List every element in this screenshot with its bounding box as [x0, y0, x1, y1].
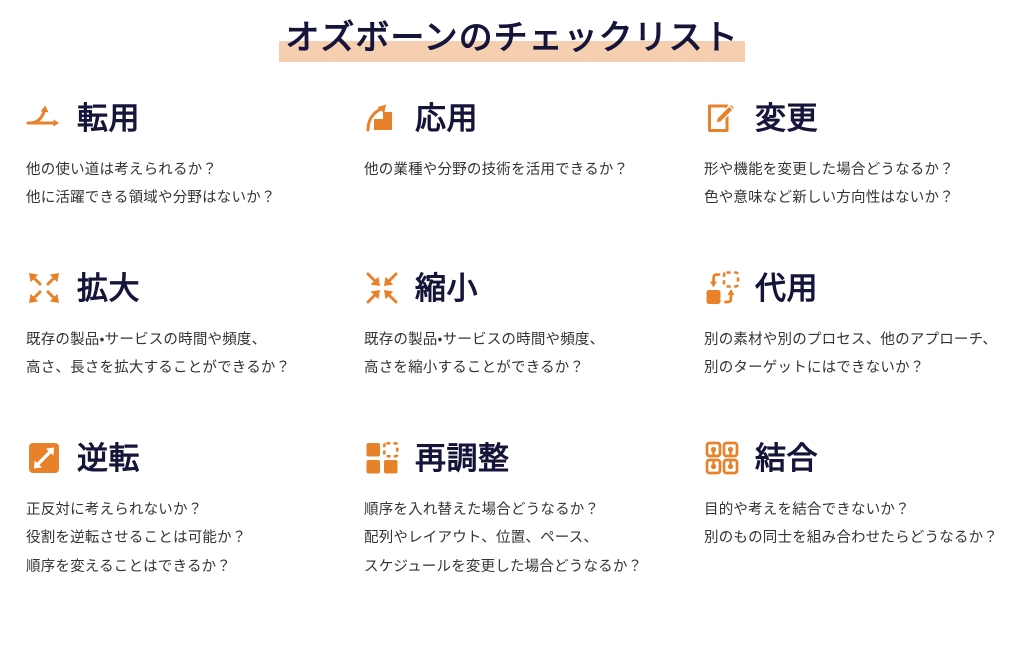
card-line: スケジュールを変更した場合どうなるか？	[364, 553, 688, 581]
card-line: 別のターゲットにはできないか？	[704, 354, 1008, 382]
card-header: 縮小	[362, 260, 688, 316]
card-header: 拡大	[24, 260, 348, 316]
card-title: 再調整	[415, 443, 510, 474]
card-header: 転用	[24, 90, 348, 146]
checklist-card-reverse: 逆転 正反対に考えられないか？ 役割を逆転させることは可能か？ 順序を変えること…	[24, 430, 362, 581]
four-squares-dashed-icon	[362, 438, 402, 478]
card-title: 結合	[755, 443, 818, 474]
card-line: 既存の製品・サービスの時間や頻度、	[26, 326, 348, 354]
card-line: 他の業種や分野の技術を活用できるか？	[364, 156, 688, 184]
card-title: 応用	[415, 103, 478, 134]
collapse-arrows-icon	[362, 268, 402, 308]
checklist-card-apply: 応用 他の業種や分野の技術を活用できるか？	[362, 90, 702, 260]
checklist-card-minify: 縮小 既存の製品・サービスの時間や頻度、 高さを縮小することができるか？	[362, 260, 702, 430]
card-line: 順序を入れ替えた場合どうなるか？	[364, 496, 688, 524]
checklist-card-combine: 結合 目的や考えを結合できないか？ 別のもの同士を組み合わせたらどうなるか？	[702, 430, 1022, 581]
card-line: 正反対に考えられないか？	[26, 496, 348, 524]
card-title: 逆転	[77, 443, 140, 474]
card-line: 目的や考えを結合できないか？	[704, 496, 1008, 524]
card-header: 代用	[702, 260, 1008, 316]
checklist-card-substitute: 代用 別の素材や別のプロセス、他のアプローチ、 別のターゲットにはできないか？	[702, 260, 1022, 430]
card-description: 既存の製品・サービスの時間や頻度、 高さを縮小することができるか？	[362, 326, 688, 383]
checklist-grid: 転用 他の使い道は考えられるか？ 他に活躍できる領域や分野はないか？ 応用 他の…	[0, 66, 1024, 581]
card-line: 配列やレイアウト、位置、ペース、	[364, 524, 688, 552]
card-line: 既存の製品・サービスの時間や頻度、	[364, 326, 688, 354]
card-line: 役割を逆転させることは可能か？	[26, 524, 348, 552]
branching-arrow-icon	[24, 98, 64, 138]
card-description: 別の素材や別のプロセス、他のアプローチ、 別のターゲットにはできないか？	[702, 326, 1008, 383]
card-title: 拡大	[77, 273, 140, 304]
expand-arrows-icon	[24, 268, 64, 308]
card-line: 別の素材や別のプロセス、他のアプローチ、	[704, 326, 1008, 354]
card-header: 変更	[702, 90, 1008, 146]
rising-arrow-bar-icon	[362, 98, 402, 138]
card-title: 縮小	[415, 273, 478, 304]
card-line: 色や意味など新しい方向性はないか？	[704, 184, 1008, 212]
card-line: 高さを縮小することができるか？	[364, 354, 688, 382]
checklist-card-rearrange: 再調整 順序を入れ替えた場合どうなるか？ 配列やレイアウト、位置、ペース、 スケ…	[362, 430, 702, 581]
card-title: 変更	[755, 103, 818, 134]
card-description: 正反対に考えられないか？ 役割を逆転させることは可能か？ 順序を変えることはでき…	[24, 496, 348, 581]
card-line: 他の使い道は考えられるか？	[26, 156, 348, 184]
card-description: 形や機能を変更した場合どうなるか？ 色や意味など新しい方向性はないか？	[702, 156, 1008, 213]
pencil-document-icon	[702, 98, 742, 138]
card-header: 再調整	[362, 430, 688, 486]
checklist-card-divert: 転用 他の使い道は考えられるか？ 他に活躍できる領域や分野はないか？	[24, 90, 362, 260]
card-header: 結合	[702, 430, 1008, 486]
card-line: 順序を変えることはできるか？	[26, 553, 348, 581]
reverse-arrows-square-icon	[24, 438, 64, 478]
card-description: 目的や考えを結合できないか？ 別のもの同士を組み合わせたらどうなるか？	[702, 496, 1008, 553]
card-description: 順序を入れ替えた場合どうなるか？ 配列やレイアウト、位置、ペース、 スケジュール…	[362, 496, 688, 581]
card-header: 応用	[362, 90, 688, 146]
checklist-card-modify: 変更 形や機能を変更した場合どうなるか？ 色や意味など新しい方向性はないか？	[702, 90, 1022, 260]
card-description: 他の業種や分野の技術を活用できるか？	[362, 156, 688, 184]
page-title-container: オズボーンのチェックリスト	[0, 0, 1024, 66]
card-line: 形や機能を変更した場合どうなるか？	[704, 156, 1008, 184]
card-line: 高さ、長さを拡大することができるか？	[26, 354, 348, 382]
card-title: 転用	[77, 103, 140, 134]
card-description: 既存の製品・サービスの時間や頻度、 高さ、長さを拡大することができるか？	[24, 326, 348, 383]
page-title-text: オズボーンのチェックリスト	[285, 19, 738, 57]
card-description: 他の使い道は考えられるか？ 他に活躍できる領域や分野はないか？	[24, 156, 348, 213]
card-line: 別のもの同士を組み合わせたらどうなるか？	[704, 524, 1008, 552]
card-line: 他に活躍できる領域や分野はないか？	[26, 184, 348, 212]
card-title: 代用	[755, 273, 818, 304]
checklist-card-magnify: 拡大 既存の製品・サービスの時間や頻度、 高さ、長さを拡大することができるか？	[24, 260, 362, 430]
card-header: 逆転	[24, 430, 348, 486]
page-title: オズボーンのチェックリスト	[279, 18, 744, 62]
interlocking-squares-icon	[702, 438, 742, 478]
swap-squares-icon	[702, 268, 742, 308]
